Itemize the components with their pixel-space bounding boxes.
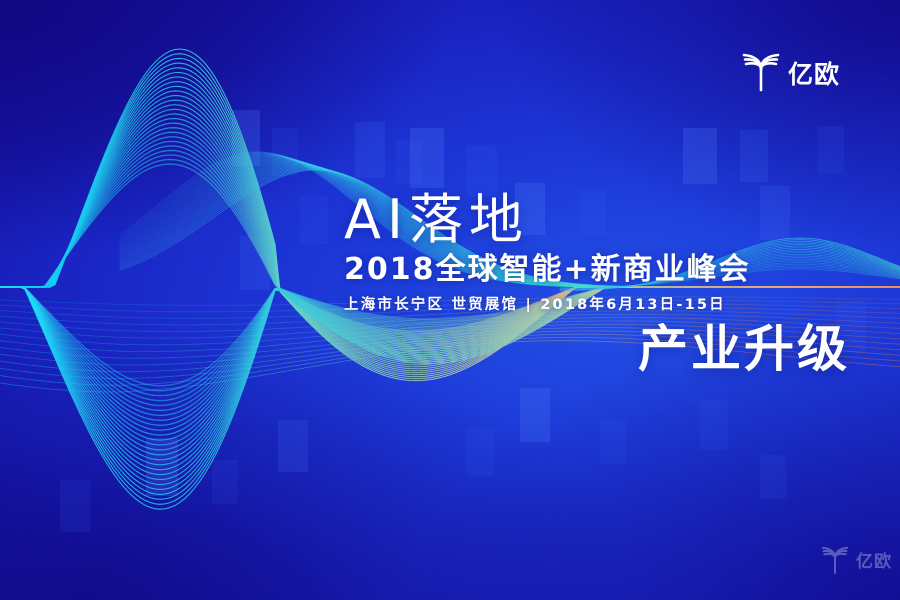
background-square — [760, 455, 786, 499]
background-square — [410, 128, 444, 188]
background-square — [300, 196, 328, 244]
background-square — [740, 130, 768, 182]
poster-subtitle: 2018全球智能+新商业峰会 — [344, 251, 850, 289]
background-square — [700, 400, 728, 450]
brand-logo-watermark: 亿欧 — [820, 545, 892, 580]
yiou-tree-logo-icon — [740, 52, 782, 97]
poster-title: AI落地 — [344, 192, 850, 247]
background-square — [212, 460, 238, 504]
background-square — [278, 420, 308, 472]
background-square — [240, 236, 270, 290]
brand-logo-top[interactable]: 亿欧 — [740, 52, 840, 97]
brand-name-watermark: 亿欧 — [856, 554, 892, 571]
background-square — [355, 122, 385, 178]
poster-tagline: 产业升级 — [344, 322, 850, 376]
background-square — [520, 388, 550, 442]
background-square — [600, 420, 626, 464]
background-square — [272, 128, 298, 176]
brand-name-top: 亿欧 — [788, 62, 840, 87]
poster-venue-date: 上海市长宁区 世贸展馆 | 2018年6月13日-15日 — [344, 296, 850, 315]
background-square — [466, 428, 494, 476]
background-square — [818, 126, 844, 174]
yiou-tree-logo-icon-watermark — [820, 545, 850, 580]
conference-poster: 亿欧 亿欧 AI落地 2018全球智能+新商业峰会 上海市长宁区 世贸展馆 | … — [0, 0, 900, 600]
background-square — [146, 438, 178, 496]
background-square — [232, 110, 260, 166]
headline-block: AI落地 2018全球智能+新商业峰会 上海市长宁区 世贸展馆 | 2018年6… — [344, 192, 850, 376]
background-square — [60, 480, 90, 532]
background-square — [683, 128, 717, 184]
